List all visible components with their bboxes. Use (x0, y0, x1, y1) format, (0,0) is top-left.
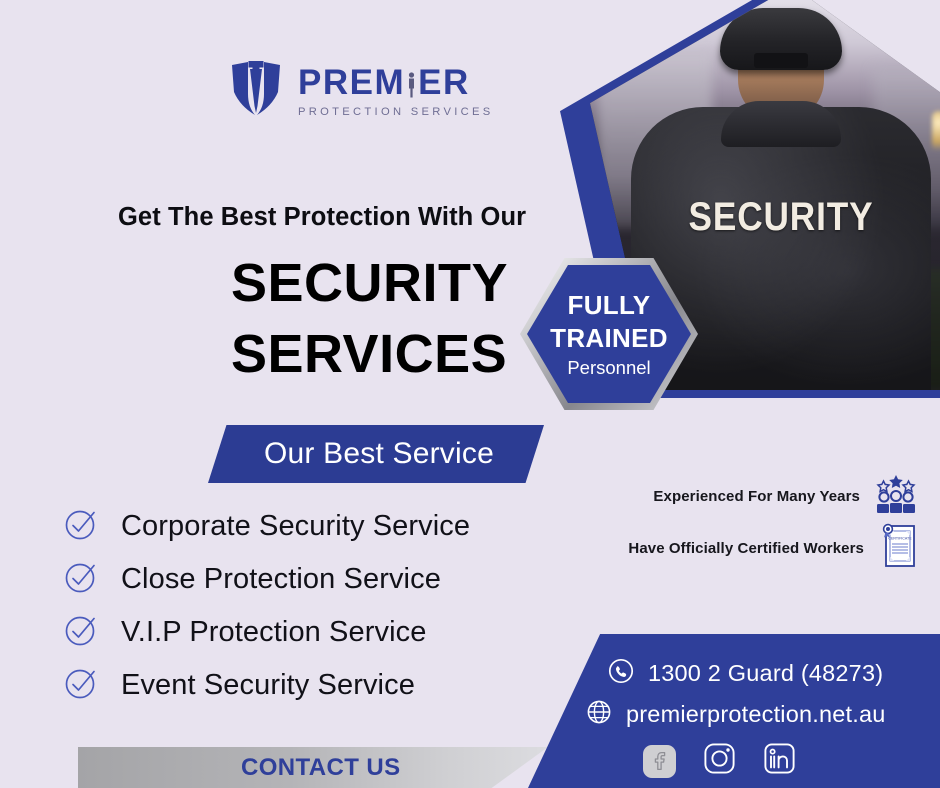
linkedin-icon[interactable] (763, 742, 796, 780)
features-list: Experienced For Many Years Have Official… (608, 470, 918, 574)
standing-person-icon (407, 69, 416, 95)
check-circle-icon (63, 506, 99, 547)
ribbon-label: Our Best Service (258, 437, 494, 471)
contact-panel: 1300 2 Guard (48273) premierprotection.n… (528, 634, 940, 788)
list-item[interactable]: Corporate Security Service (63, 500, 543, 553)
check-circle-icon (63, 612, 99, 653)
headline-kicker: Get The Best Protection With Our (118, 203, 526, 232)
service-label: Corporate Security Service (121, 510, 470, 543)
logo-name-part1: PREM (298, 65, 405, 100)
logo-name-part2: ER (418, 65, 470, 100)
website-url: premierprotection.net.au (626, 701, 886, 728)
badge-line-2: TRAINED (550, 322, 668, 355)
badge-text-group: FULLY TRAINED Personnel (520, 258, 698, 410)
facebook-icon[interactable] (643, 745, 676, 778)
contact-phone-row[interactable]: 1300 2 Guard (48273) (608, 658, 883, 689)
jacket-security-text: SECURITY (688, 195, 873, 240)
feature-row-certified: Have Officially Certified Workers CERTIF… (608, 522, 918, 574)
headline-line-2: SERVICES (231, 319, 508, 390)
badge-line-1: FULLY (568, 289, 651, 322)
contact-website-row[interactable]: premierprotection.net.au (586, 699, 886, 730)
logo-tagline: PROTECTION SERVICES (298, 107, 494, 118)
check-circle-icon (63, 665, 99, 706)
contact-us-label: CONTACT US (241, 754, 401, 782)
headline-main: SECURITY SERVICES (231, 248, 508, 391)
shield-tie-icon (228, 58, 284, 125)
feature-row-experience: Experienced For Many Years (608, 470, 918, 522)
headline-line-1: SECURITY (231, 248, 508, 319)
our-best-service-ribbon: Our Best Service (208, 425, 544, 483)
guard-cap-strap (754, 53, 808, 68)
service-label: V.I.P Protection Service (121, 616, 426, 649)
fully-trained-badge: FULLY TRAINED Personnel (520, 258, 698, 410)
list-item[interactable]: V.I.P Protection Service (63, 606, 543, 659)
phone-icon (608, 658, 634, 689)
feature-label: Have Officially Certified Workers (628, 540, 864, 557)
guard-jacket-collar (721, 101, 841, 147)
certificate-icon: CERTIFICATE (878, 522, 918, 575)
logo-wordmark: PREM ER PROTECTION SERVICES (298, 65, 494, 118)
check-circle-icon (63, 559, 99, 600)
contact-us-bar: CONTACT US (78, 747, 548, 788)
poster-canvas: SECURITY PREM ER PRO (0, 0, 940, 788)
social-links (643, 742, 796, 780)
service-label: Event Security Service (121, 669, 415, 702)
logo-name-row: PREM ER (298, 65, 494, 100)
phone-number: 1300 2 Guard (48273) (648, 660, 883, 687)
svg-text:CERTIFICATE: CERTIFICATE (888, 536, 912, 540)
photo-street-lamp (932, 111, 940, 157)
badge-line-3: Personnel (567, 357, 650, 379)
guard-cap (720, 8, 842, 70)
brand-logo: PREM ER PROTECTION SERVICES (228, 58, 494, 125)
team-stars-icon (874, 473, 918, 520)
service-label: Close Protection Service (121, 563, 441, 596)
globe-icon (586, 699, 612, 730)
list-item[interactable]: Close Protection Service (63, 553, 543, 606)
services-list: Corporate Security Service Close Protect… (63, 500, 543, 712)
list-item[interactable]: Event Security Service (63, 659, 543, 712)
feature-label: Experienced For Many Years (653, 488, 860, 505)
instagram-icon[interactable] (703, 742, 736, 780)
